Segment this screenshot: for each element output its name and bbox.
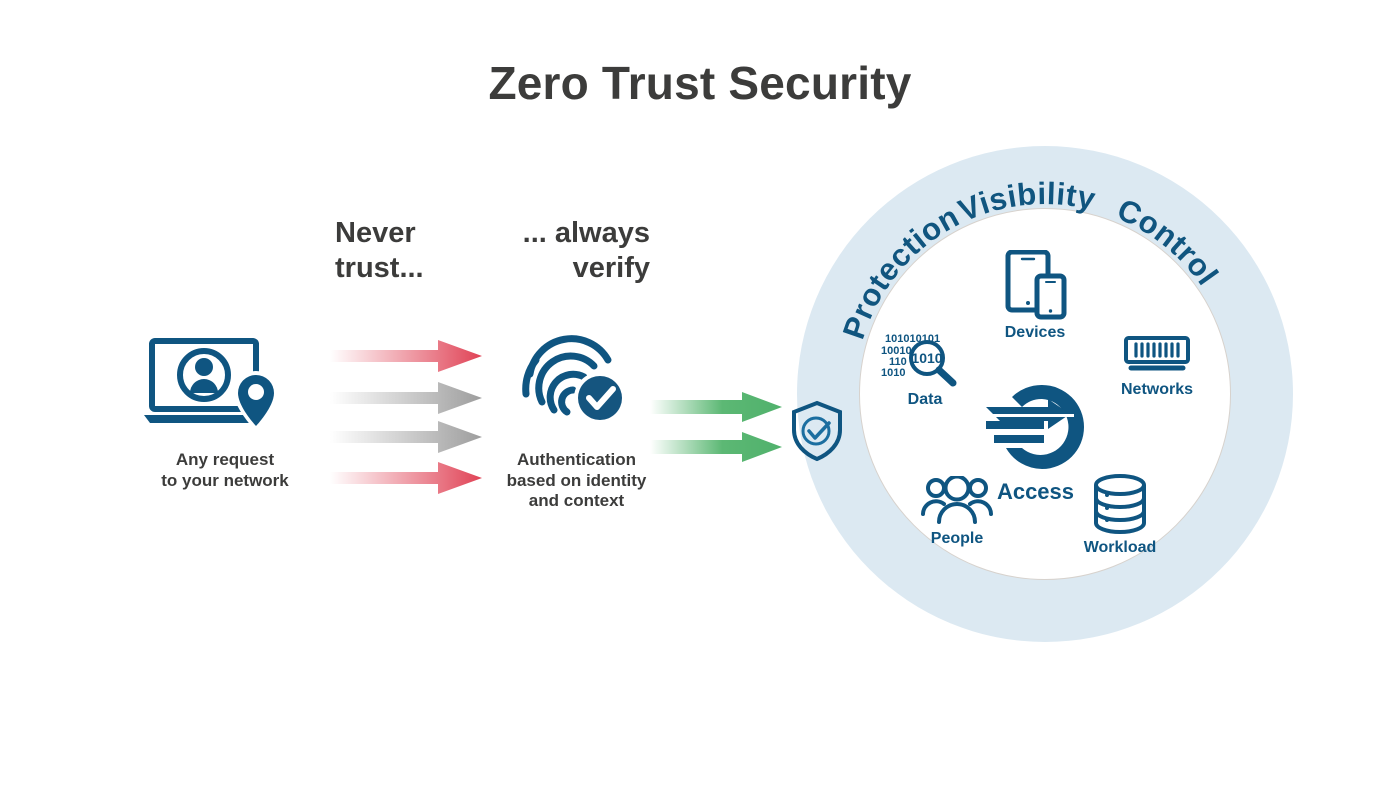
- arrows-into-circle-icon: [984, 381, 1088, 477]
- arrow-green-2: [650, 432, 782, 462]
- fingerprint-check-icon: [516, 330, 636, 435]
- arc-label-visibility: Visibility: [953, 176, 1099, 228]
- never-trust-line-2: trust...: [335, 251, 475, 286]
- zero-trust-circle: Protection Visibility Control Devices 10…: [797, 146, 1293, 642]
- request-caption-line-2: to your network: [130, 471, 320, 492]
- pillar-workload-label: Workload: [1055, 539, 1185, 557]
- arc-label-control: Control: [1112, 192, 1225, 292]
- shield-check-icon: [789, 400, 845, 462]
- auth-caption-line-3: and context: [484, 491, 669, 512]
- always-verify-line-1: ... always: [490, 216, 650, 251]
- people-group-icon: [920, 476, 994, 526]
- always-verify-label: ... always verify: [490, 216, 650, 287]
- binary-magnifier-icon: 101010101 10010 110 1010 1010: [879, 331, 971, 387]
- network-switch-icon: [1122, 335, 1192, 377]
- request-caption-line-1: Any request: [130, 450, 320, 471]
- pillar-people[interactable]: People: [897, 476, 1017, 548]
- arrow-gray-1: [330, 382, 482, 414]
- magnifier-digits: 1010: [911, 350, 942, 366]
- pillar-people-label: People: [897, 530, 1017, 548]
- auth-caption-line-2: based on identity: [484, 471, 669, 492]
- pillar-devices[interactable]: Devices: [975, 250, 1095, 342]
- never-trust-line-1: Never: [335, 216, 475, 251]
- never-trust-label: Never trust...: [335, 216, 475, 287]
- allow-arrows-group: [650, 392, 790, 464]
- arrow-gray-2: [330, 421, 482, 453]
- pillar-devices-label: Devices: [975, 324, 1095, 342]
- binary-row-4: 1010: [881, 367, 905, 379]
- arrow-green-1: [650, 392, 782, 422]
- pillar-workload[interactable]: Workload: [1055, 473, 1185, 557]
- always-verify-line-2: verify: [490, 251, 650, 286]
- database-cylinder-icon: [1090, 473, 1150, 535]
- deny-arrows-group: [330, 340, 490, 505]
- auth-caption-line-1: Authentication: [484, 450, 669, 471]
- any-request-caption: Any request to your network: [130, 450, 320, 491]
- arrow-red-2: [330, 462, 482, 494]
- laptop-user-location-icon: [140, 335, 310, 435]
- tablet-phone-icon: [999, 250, 1071, 320]
- authentication-block: [516, 330, 636, 435]
- page-title: Zero Trust Security: [0, 56, 1400, 110]
- authentication-caption: Authentication based on identity and con…: [484, 450, 669, 512]
- arc-label-protection: Protection: [836, 199, 965, 344]
- arrow-red-1: [330, 340, 482, 372]
